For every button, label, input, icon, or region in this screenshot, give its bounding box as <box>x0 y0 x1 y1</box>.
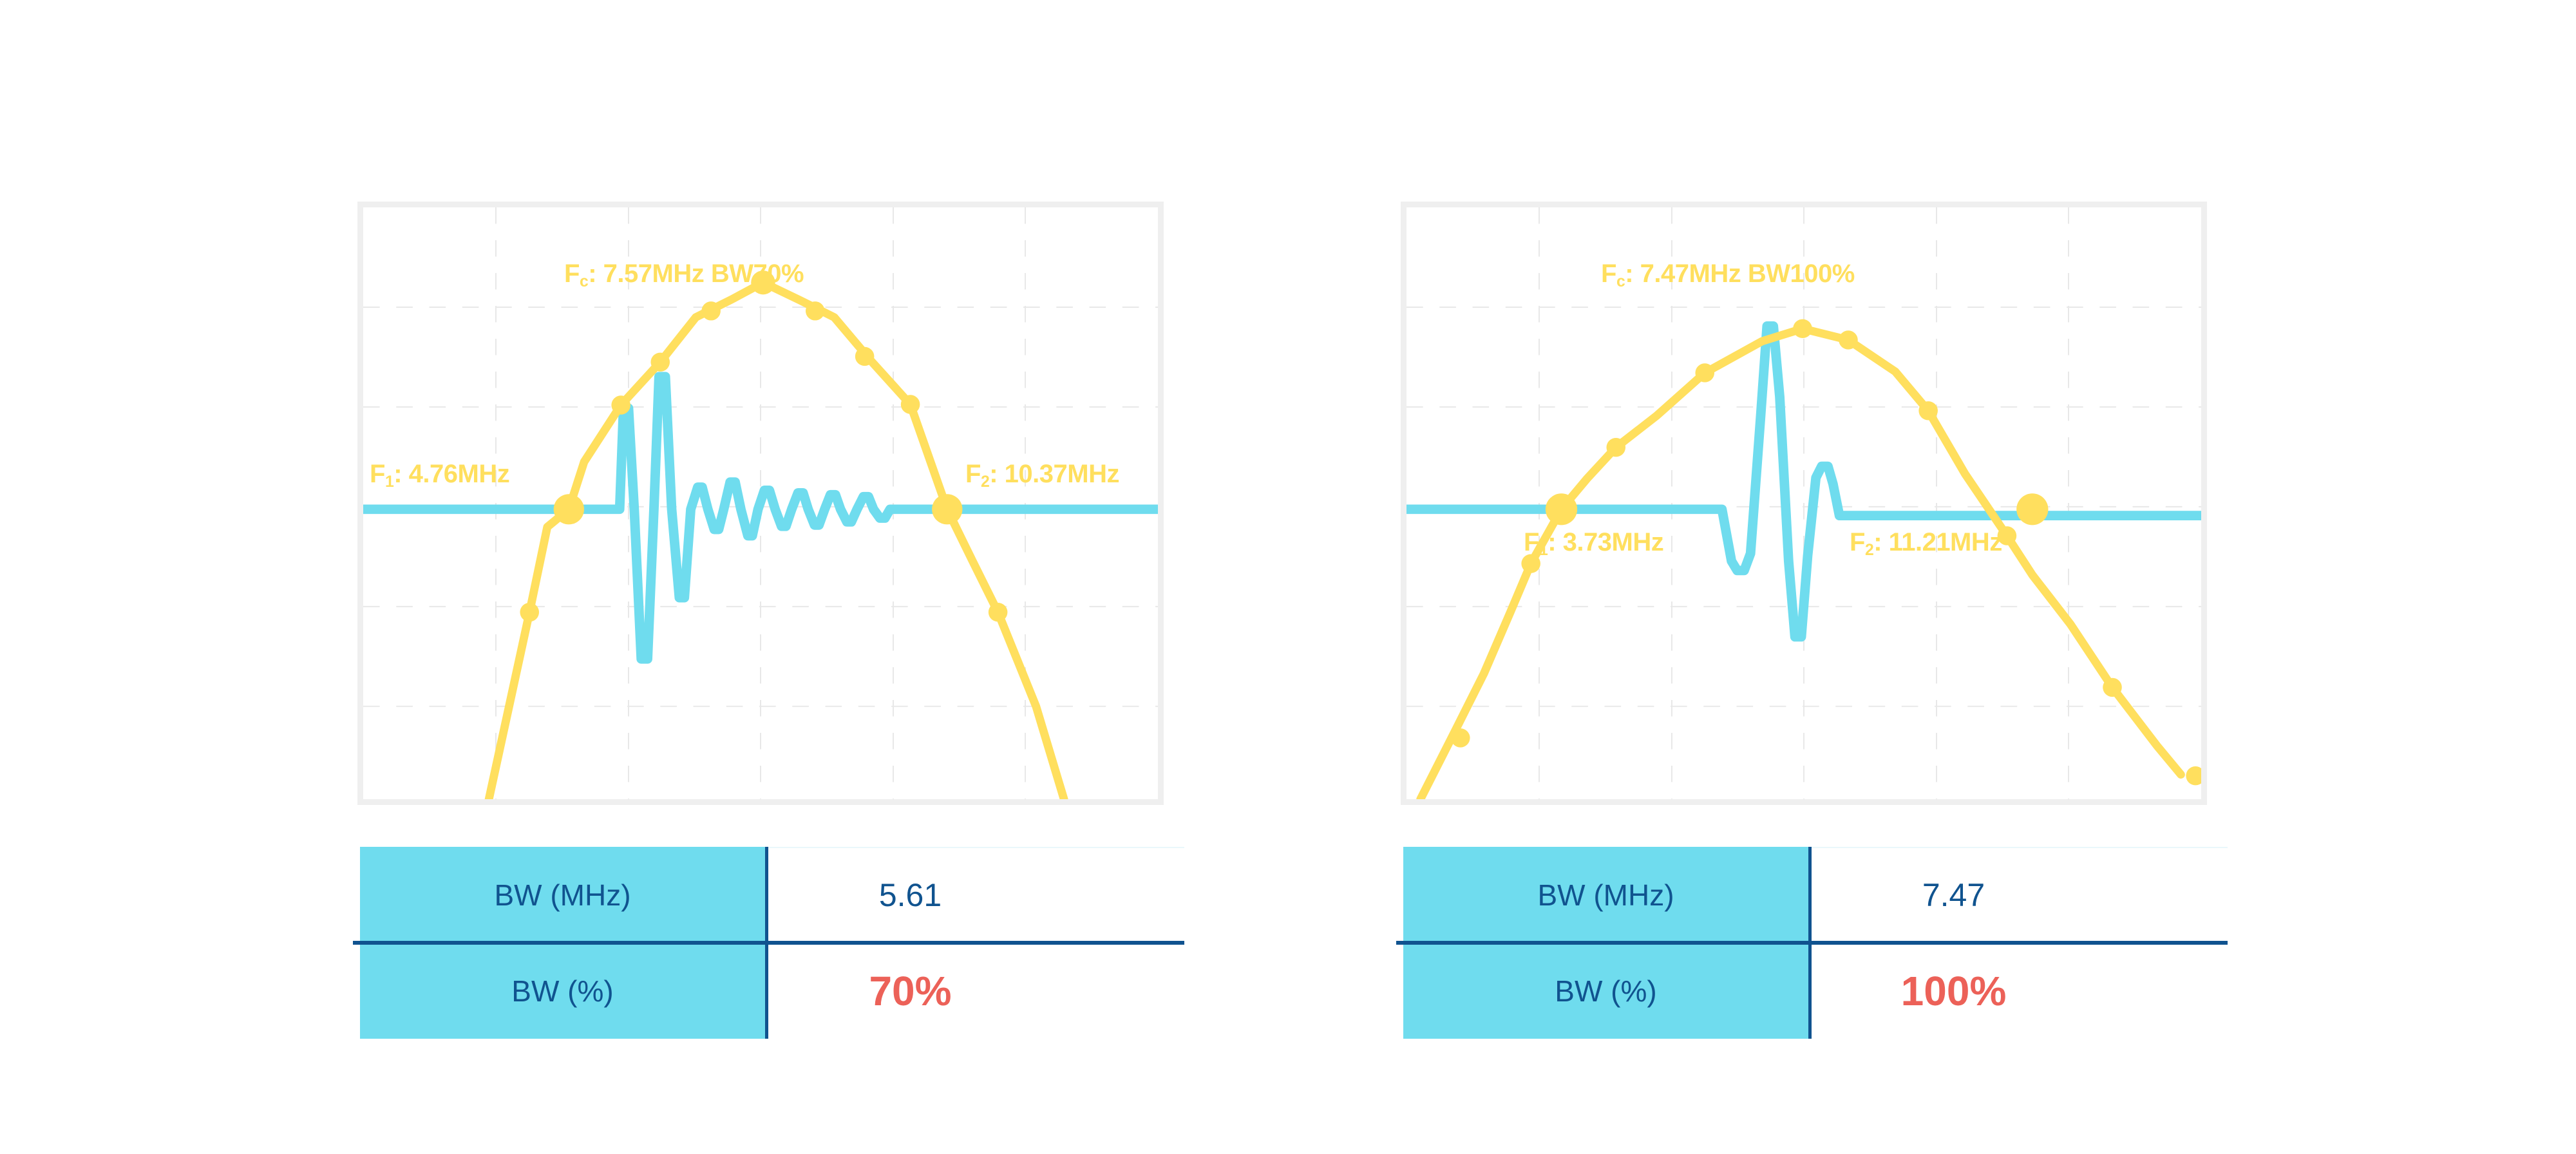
label-fc-left-text: : 7.57MHz BW70% <box>588 260 804 288</box>
label-f1-right-text: : 3.73MHz <box>1548 528 1663 556</box>
bw-pct-value-right: 100% <box>1901 967 2007 1015</box>
grid-lines <box>1406 207 2201 799</box>
table-row: BW (MHz) 7.47 <box>1403 847 2228 943</box>
label-f1-right: F1: 3.73MHz <box>1524 529 1663 555</box>
label-f2-left-prefix: F <box>965 460 981 488</box>
label-f1-right-sub: 1 <box>1539 542 1548 559</box>
chart-right <box>1406 207 2201 799</box>
label-f1-left-prefix: F <box>370 460 385 488</box>
label-f1-right-prefix: F <box>1524 528 1539 556</box>
label-fc-right: Fc: 7.47MHz BW100% <box>1601 261 1855 287</box>
label-f2-right-prefix: F <box>1850 528 1865 556</box>
bw-pct-header-left: BW (%) <box>360 943 765 1039</box>
panel-left: Fc: 7.57MHz BW70% F1: 4.76MHz F2: 10.37M… <box>0 0 1224 1154</box>
bw-table-right: BW (MHz) 7.47 BW (%) 100% <box>1403 847 2228 1039</box>
bw-pct-header-right: BW (%) <box>1403 943 1808 1039</box>
label-fc-right-prefix: F <box>1601 260 1616 288</box>
chart-frame-right: Fc: 7.47MHz BW100% F1: 3.73MHz F2: 11.21… <box>1401 202 2207 805</box>
table-row-divider-right <box>1396 941 2228 945</box>
spectrum-line-left <box>489 283 1064 799</box>
bw-mhz-header-right: BW (MHz) <box>1403 847 1808 943</box>
label-fc-left-sub: c <box>580 273 588 290</box>
label-f1-left-text: : 4.76MHz <box>393 460 509 488</box>
bw-pct-value-left: 70% <box>869 967 951 1015</box>
label-f2-right-sub: 2 <box>1865 542 1873 559</box>
table-row: BW (%) 100% <box>1403 943 2228 1039</box>
label-fc-left: Fc: 7.57MHz BW70% <box>564 261 804 287</box>
label-fc-left-prefix: F <box>564 260 580 288</box>
label-f1-left: F1: 4.76MHz <box>370 461 509 487</box>
panel-right: Fc: 7.47MHz BW100% F1: 3.73MHz F2: 11.21… <box>1043 0 2267 1154</box>
label-f2-left-sub: 2 <box>981 473 989 491</box>
chart-left <box>363 207 1158 799</box>
label-f1-left-sub: 1 <box>385 473 393 491</box>
bw-mhz-header-left: BW (MHz) <box>360 847 765 943</box>
bw-mhz-value-left: 5.61 <box>879 876 942 914</box>
bw-mhz-value-right: 7.47 <box>1922 876 1985 914</box>
label-fc-right-sub: c <box>1616 273 1625 290</box>
bw-pct-value-cell-right: 100% <box>1808 943 2228 1039</box>
label-f2-right-text: : 11.21MHz <box>1873 528 2002 556</box>
label-f2-right: F2: 11.21MHz <box>1850 529 2002 555</box>
bw-mhz-value-cell-right: 7.47 <box>1808 847 2228 943</box>
label-fc-right-text: : 7.47MHz BW100% <box>1625 260 1855 288</box>
